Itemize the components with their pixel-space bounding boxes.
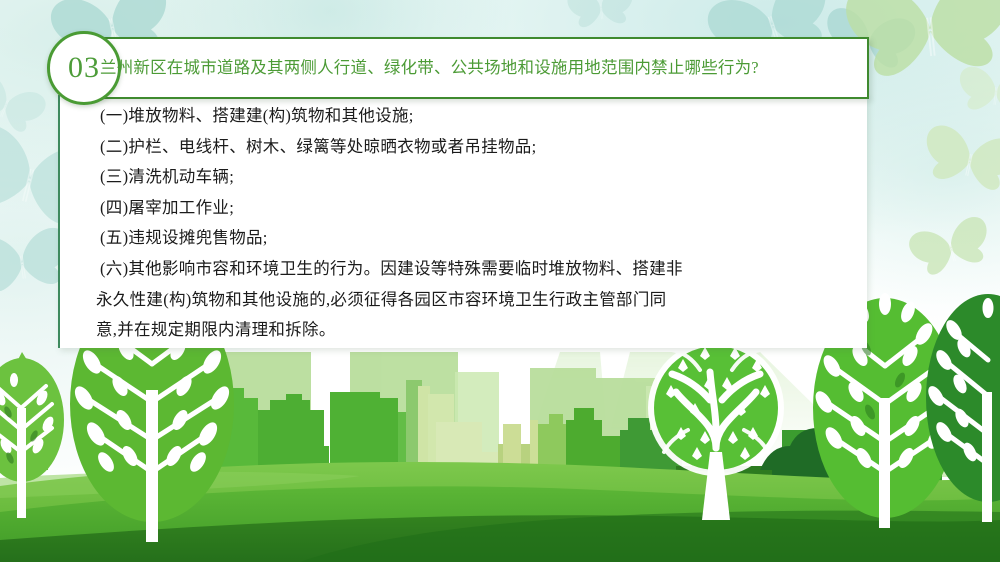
body-line: (四)屠宰加工作业; — [100, 193, 860, 224]
body-line: 永久性建(构)筑物和其他设施的,必须征得各园区市容环境卫生行政主管部门同 — [96, 285, 860, 316]
body-line: 意,并在规定期限内清理和拆除。 — [96, 315, 860, 346]
body-line: (一)堆放物料、搭建建(构)筑物和其他设施; — [100, 101, 860, 132]
page-title: 兰州新区在城市道路及其两侧人行道、绿化带、公共场地和设施用地范围内禁止哪些行为? — [100, 50, 860, 82]
body-line: (五)违规设摊兜售物品; — [100, 223, 860, 254]
body-line: (六)其他影响市容和环境卫生的行为。因建设等特殊需要临时堆放物料、搭建非 — [100, 254, 860, 285]
body-line: (三)清洗机动车辆; — [100, 162, 860, 193]
section-number-label: 03 — [68, 53, 100, 83]
slide-canvas: 03 兰州新区在城市道路及其两侧人行道、绿化带、公共场地和设施用地范围内禁止哪些… — [0, 0, 1000, 562]
body-line: (二)护栏、电线杆、树木、绿篱等处晾晒衣物或者吊挂物品; — [100, 132, 860, 163]
answer-body: (一)堆放物料、搭建建(构)筑物和其他设施; (二)护栏、电线杆、树木、绿篱等处… — [100, 101, 860, 346]
